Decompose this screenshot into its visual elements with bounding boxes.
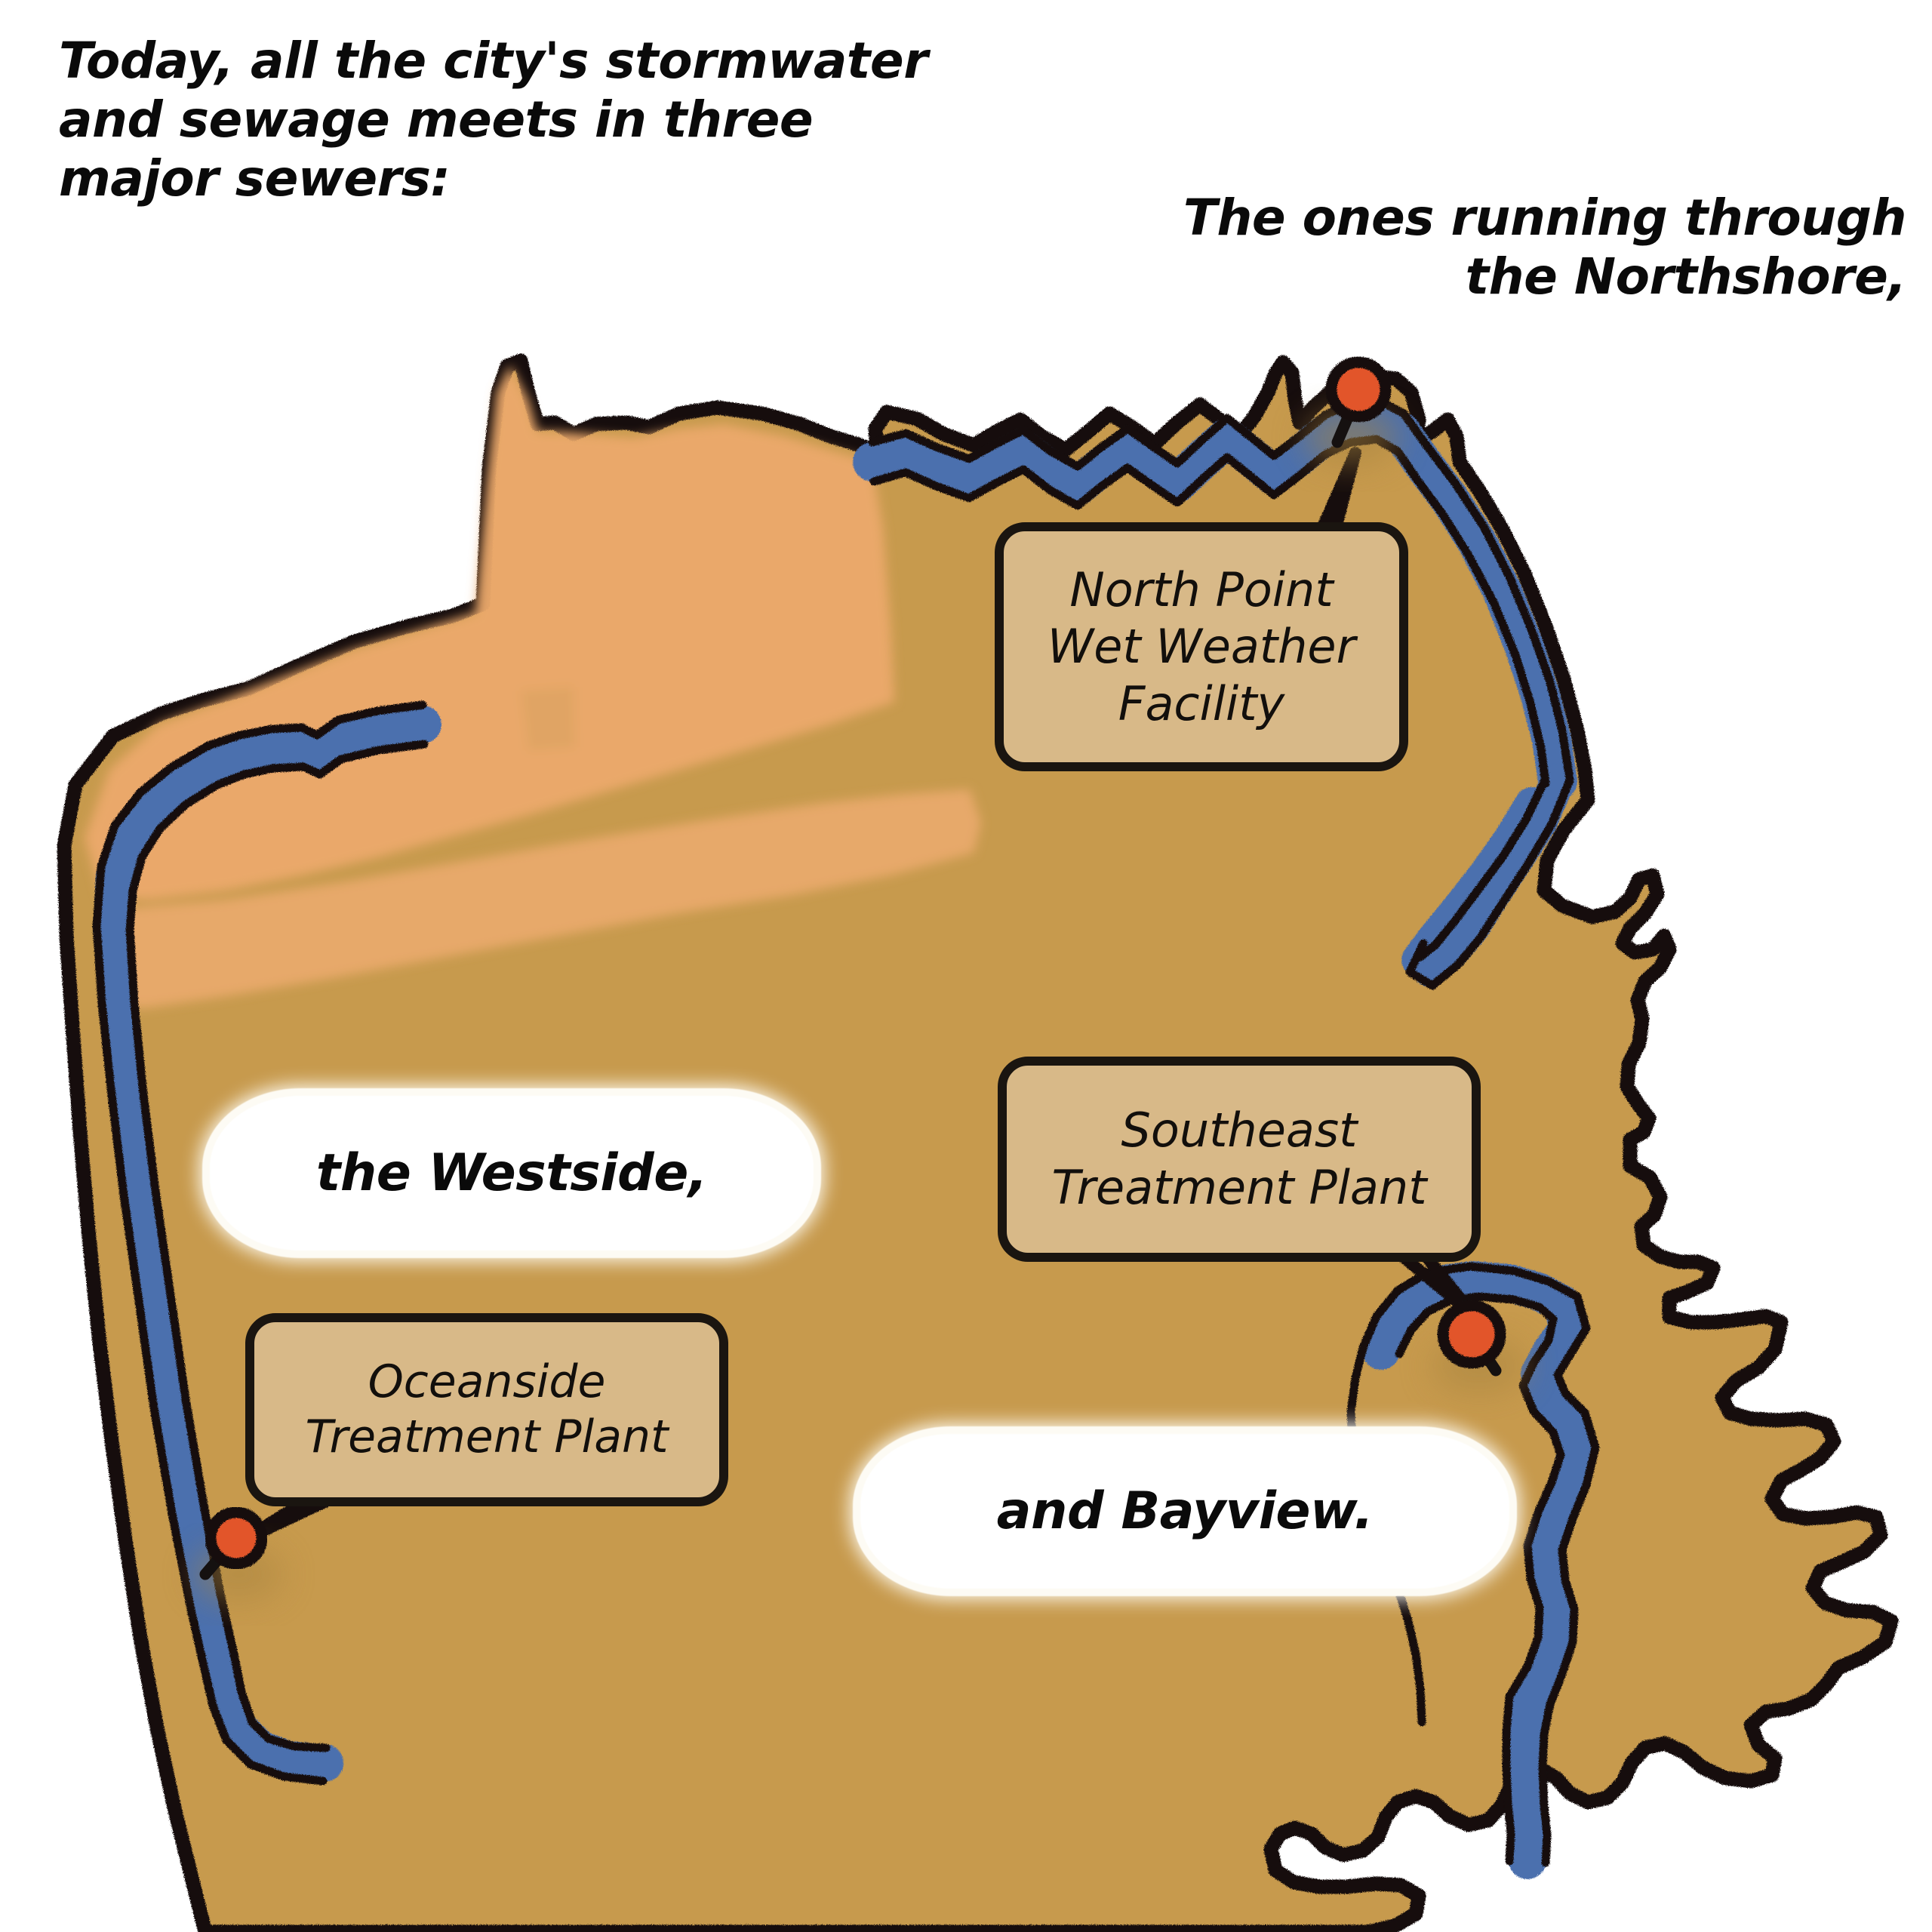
label-southeast-treatment-plant[interactable]: Southeast Treatment Plant [998,1057,1481,1262]
narration-northshore: The ones running through the Northshore, [1183,189,1906,306]
illustration-canvas: Today, all the city's stormwater and sew… [0,0,1932,1932]
narration-intro: Today, all the city's stormwater and sew… [59,32,928,208]
callout-westside: the Westside, [210,1096,814,1251]
land-light-notch [521,687,575,751]
north-point-marker-icon[interactable] [1331,362,1386,417]
label-oceanside-treatment-plant[interactable]: Oceanside Treatment Plant [245,1313,728,1506]
callout-bayview-label: and Bayview. [997,1481,1374,1541]
callout-bayview: and Bayview. [860,1434,1509,1589]
label-north-point-wet-weather-facility[interactable]: North Point Wet Weather Facility [995,522,1408,771]
southeast-marker-icon[interactable] [1443,1306,1500,1363]
oceanside-marker-icon[interactable] [211,1512,262,1564]
callout-westside-label: the Westside, [316,1143,707,1203]
